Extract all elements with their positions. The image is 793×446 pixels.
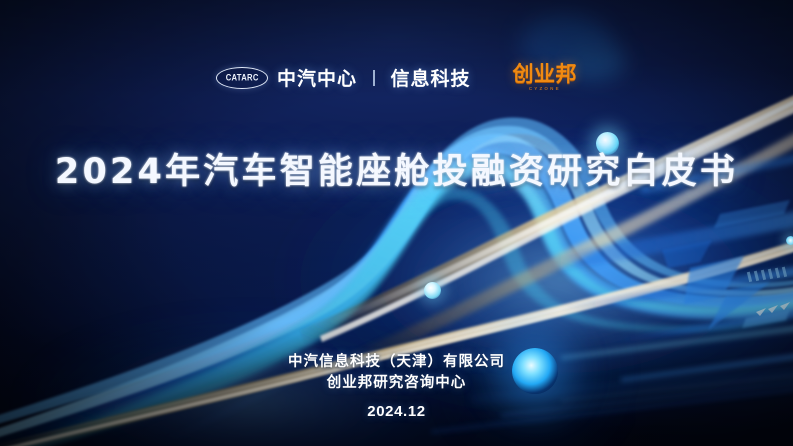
footer-org-line-2: 创业邦研究咨询中心 — [0, 373, 793, 394]
footer-block: 中汽信息科技（天津）有限公司 创业邦研究咨询中心 2024.12 — [0, 352, 793, 420]
catarc-division-cn: 信息科技 — [391, 64, 471, 91]
chuangyebang-name-pinyin: CYZONE — [529, 87, 561, 92]
catarc-name-cn: 中汽中心 — [277, 64, 357, 91]
report-cover-slide: CATARC 中汽中心 信息科技 创业邦 CYZONE 2024年汽车智能座舱投… — [0, 0, 793, 446]
logo-separator-bar — [373, 70, 375, 86]
footer-org-line-1: 中汽信息科技（天津）有限公司 — [0, 352, 793, 373]
chuangyebang-logo: 创业邦 CYZONE — [513, 64, 578, 92]
logo-bar: CATARC 中汽中心 信息科技 创业邦 CYZONE — [0, 64, 793, 92]
page-title: 2024年汽车智能座舱投融资研究白皮书 — [0, 143, 793, 194]
footer-date: 2024.12 — [0, 403, 793, 420]
catarc-ellipse-logo-icon: CATARC — [216, 67, 268, 89]
catarc-wordmark: CATARC — [225, 72, 258, 83]
chuangyebang-name-cn: 创业邦 — [513, 64, 578, 85]
catarc-logo-group: CATARC 中汽中心 信息科技 — [216, 64, 471, 91]
slide-content: CATARC 中汽中心 信息科技 创业邦 CYZONE 2024年汽车智能座舱投… — [0, 0, 793, 446]
